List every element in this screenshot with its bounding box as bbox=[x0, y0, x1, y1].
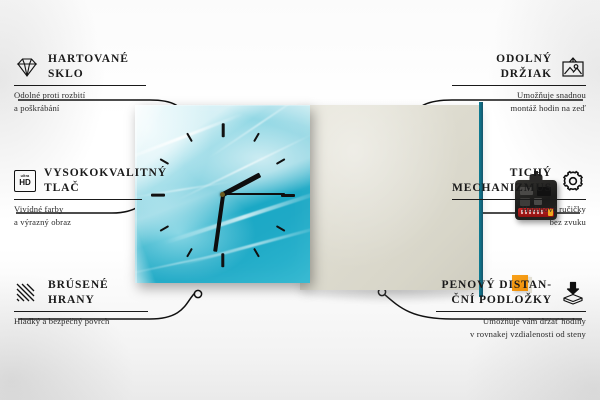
feature-title: HARTOVANÉ bbox=[48, 52, 129, 67]
feature-foam-spacers: PENOVÝ DISTAN- ČNÍ PODLOŽKY Umožňuje vám… bbox=[436, 278, 586, 340]
feature-title-2: MECHANIZMUS bbox=[452, 181, 552, 196]
feature-desc-2: a výrazný obraz bbox=[14, 216, 142, 228]
feature-desc-2: montáž hodin na zeď bbox=[452, 102, 586, 114]
feature-title-2: TLAČ bbox=[44, 181, 167, 196]
feature-tempered-glass: HARTOVANÉ SKLO Odolné proti rozbití a po… bbox=[14, 52, 146, 114]
feature-desc-2: v rovnakej vzdialenosti od steny bbox=[436, 328, 586, 340]
infographic-canvas: HARTOVANÉ SKLO Odolné proti rozbití a po… bbox=[0, 0, 600, 400]
feature-title: PENOVÝ DISTAN- bbox=[436, 278, 552, 293]
feature-rule bbox=[14, 311, 148, 312]
ultra-hd-icon-main: HD bbox=[19, 179, 31, 187]
feature-title-2: SKLO bbox=[48, 67, 129, 82]
feature-rule bbox=[452, 199, 586, 200]
feature-title: BRÚSENÉ bbox=[48, 278, 109, 293]
picture-frame-icon bbox=[560, 55, 586, 79]
feature-desc-2: a poškrábání bbox=[14, 102, 146, 114]
clock-hub bbox=[220, 192, 225, 197]
feature-high-quality-print: ultra HD VYSOKOKVALITNÝ TLAČ Vivídné far… bbox=[14, 166, 142, 228]
feature-silent-mechanism: TICHÝ MECHANIZMUS Hodinové ručičky bez z… bbox=[452, 166, 586, 228]
feature-durable-hanger: ODOLNÝ DRŽIAK Umožňuje snadnou montáž ho… bbox=[452, 52, 586, 114]
feature-desc-1: Vivídné farby bbox=[14, 203, 142, 215]
product-photo bbox=[130, 100, 480, 295]
feature-desc-1: Umožňuje snadnou bbox=[452, 89, 586, 101]
feature-title: VYSOKOKVALITNÝ bbox=[44, 166, 167, 181]
hour-marker bbox=[221, 123, 224, 137]
feature-rule bbox=[14, 85, 146, 86]
feature-title: ODOLNÝ bbox=[452, 52, 552, 67]
feature-desc-1: Odolné proti rozbití bbox=[14, 89, 146, 101]
feature-desc-1: Umožňuje vám držať hodiny bbox=[436, 315, 586, 327]
feature-rule bbox=[14, 199, 142, 200]
hour-marker bbox=[221, 253, 224, 267]
feature-rule bbox=[436, 311, 586, 312]
second-hand bbox=[223, 193, 285, 195]
feature-desc-1: Hodinové ručičky bbox=[452, 203, 586, 215]
feature-title: TICHÝ bbox=[452, 166, 552, 181]
feature-title-2: DRŽIAK bbox=[452, 67, 552, 82]
feature-polished-edges: BRÚSENÉ HRANY Hladký a bezpečný povrch bbox=[14, 278, 148, 328]
hatch-lines-icon bbox=[14, 281, 40, 305]
feature-title-2: HRANY bbox=[48, 293, 109, 308]
feature-desc-2: bez zvuku bbox=[452, 216, 586, 228]
spacer-pad-icon bbox=[560, 281, 586, 305]
ultra-hd-icon: ultra HD bbox=[14, 170, 36, 192]
feature-rule bbox=[452, 85, 586, 86]
diamond-icon bbox=[14, 55, 40, 79]
feature-title-2: ČNÍ PODLOŽKY bbox=[436, 293, 552, 308]
feature-desc-1: Hladký a bezpečný povrch bbox=[14, 315, 148, 327]
gear-icon bbox=[560, 169, 586, 193]
